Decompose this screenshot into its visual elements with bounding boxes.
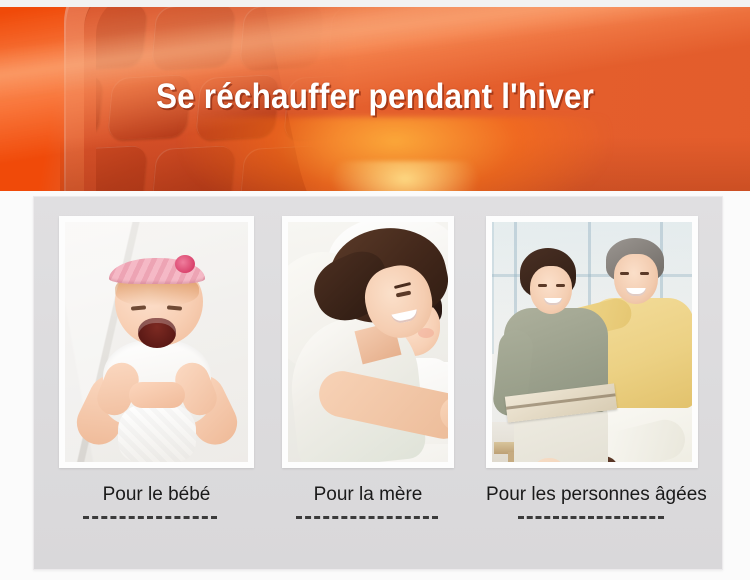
top-edge-strip xyxy=(0,0,750,7)
audience-card-elderly: Pour les personnes âgées xyxy=(486,216,698,468)
heater-glow-core xyxy=(330,161,480,191)
woman-eye-right xyxy=(556,284,565,287)
caption-underline-elderly xyxy=(518,516,664,519)
photo-baby xyxy=(65,222,248,462)
woman-eye-left xyxy=(538,284,547,287)
caption-mother: Pour la mère xyxy=(282,484,454,506)
baby-diaper xyxy=(118,404,196,462)
man-eye-left xyxy=(620,272,629,275)
audience-card-baby: Pour le bébé xyxy=(59,216,254,468)
product-banner-page: Se réchauffer pendant l'hiver xyxy=(0,0,750,580)
audience-panel: Pour le bébé xyxy=(33,196,723,570)
audience-panel-inner: Pour le bébé xyxy=(34,197,722,569)
hero-banner: Se réchauffer pendant l'hiver xyxy=(0,7,750,191)
audience-card-list: Pour le bébé xyxy=(34,197,722,569)
photo-mother xyxy=(288,222,448,462)
man-face xyxy=(614,254,658,304)
photo-frame xyxy=(282,216,454,468)
woman-face xyxy=(530,266,572,314)
baby-headband-flower xyxy=(175,255,195,273)
photo-elderly-couple xyxy=(492,222,692,462)
caption-underline-baby xyxy=(83,516,217,519)
caption-elderly: Pour les personnes âgées xyxy=(486,484,698,506)
baby-hands xyxy=(129,382,185,408)
audience-card-mother: Pour la mère xyxy=(282,216,454,468)
photo-frame xyxy=(59,216,254,468)
man-eye-right xyxy=(640,272,649,275)
caption-baby: Pour le bébé xyxy=(59,484,254,506)
caption-underline-mother xyxy=(296,516,438,519)
page-title: Se réchauffer pendant l'hiver xyxy=(38,77,713,117)
baby-open-mouth xyxy=(138,318,176,348)
photo-frame xyxy=(486,216,698,468)
